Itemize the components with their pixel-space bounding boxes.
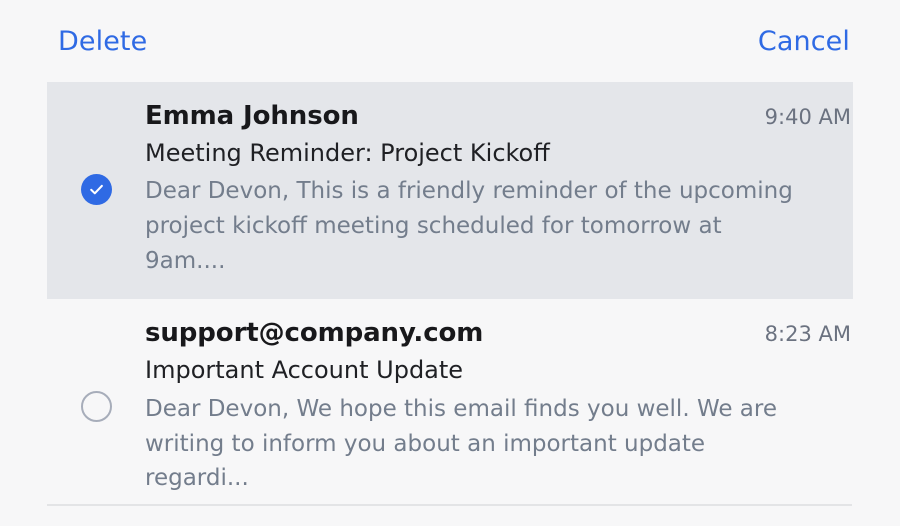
delete-button[interactable]: Delete	[58, 28, 147, 55]
email-content: Emma Johnson 9:40 AM Meeting Reminder: P…	[145, 100, 853, 279]
email-list: Emma Johnson 9:40 AM Meeting Reminder: P…	[0, 82, 900, 516]
email-timestamp: 8:23 AM	[765, 321, 851, 348]
email-timestamp: 9:40 AM	[765, 104, 851, 131]
email-preview: Dear Devon, This is a friendly reminder …	[145, 174, 805, 279]
selection-checkbox-cell	[47, 174, 145, 205]
email-subject: Meeting Reminder: Project Kickoff	[145, 136, 851, 170]
email-list-item[interactable]: Emma Johnson 9:40 AM Meeting Reminder: P…	[47, 82, 853, 299]
email-content: support@company.com 8:23 AM Important Ac…	[145, 317, 853, 496]
selection-toolbar: Delete Cancel	[0, 0, 900, 82]
cancel-button[interactable]: Cancel	[758, 28, 850, 55]
selection-checkbox-cell	[47, 391, 145, 422]
circle-outline-icon[interactable]	[81, 391, 112, 422]
email-header-line: support@company.com 8:23 AM	[145, 317, 851, 350]
email-sender: Emma Johnson	[145, 100, 359, 133]
email-header-line: Emma Johnson 9:40 AM	[145, 100, 851, 133]
email-sender: support@company.com	[145, 317, 483, 350]
email-preview: Dear Devon, We hope this email finds you…	[145, 392, 805, 497]
list-divider	[47, 504, 852, 506]
email-list-item[interactable]: support@company.com 8:23 AM Important Ac…	[47, 299, 853, 516]
check-circle-filled-icon[interactable]	[81, 174, 112, 205]
email-subject: Important Account Update	[145, 353, 851, 387]
